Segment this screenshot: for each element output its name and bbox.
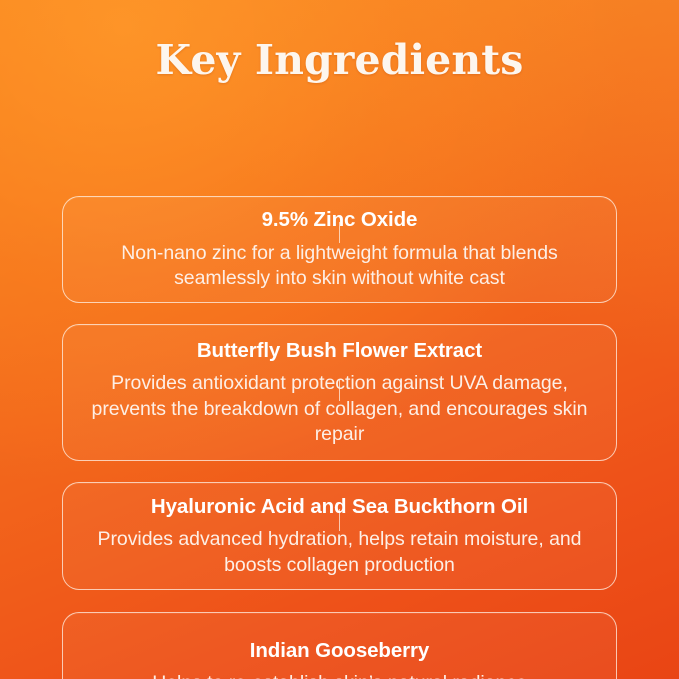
key-ingredients-poster: Key Ingredients 9.5% Zinc Oxide Non-nano… (0, 0, 679, 679)
ingredient-name: Butterfly Bush Flower Extract (197, 338, 482, 364)
ingredient-name: Indian Gooseberry (250, 638, 429, 664)
ingredient-description: Provides advanced hydration, helps retai… (81, 527, 598, 578)
ingredient-name: Hyaluronic Acid and Sea Buckthorn Oil (151, 494, 528, 520)
page-title: Key Ingredients (0, 0, 679, 81)
ingredient-description: Provides antioxidant protection against … (81, 371, 598, 447)
ingredient-card: Butterfly Bush Flower Extract Provides a… (62, 324, 617, 461)
ingredient-name: 9.5% Zinc Oxide (262, 207, 418, 233)
ingredient-card: Indian Gooseberry Helps to re-establish … (62, 612, 617, 679)
ingredient-card: 9.5% Zinc Oxide Non-nano zinc for a ligh… (62, 196, 617, 303)
ingredient-description: Non-nano zinc for a lightweight formula … (81, 241, 598, 292)
ingredient-description: Helps to re-establish skin’s natural rad… (152, 671, 527, 679)
ingredient-card: Hyaluronic Acid and Sea Buckthorn Oil Pr… (62, 482, 617, 590)
